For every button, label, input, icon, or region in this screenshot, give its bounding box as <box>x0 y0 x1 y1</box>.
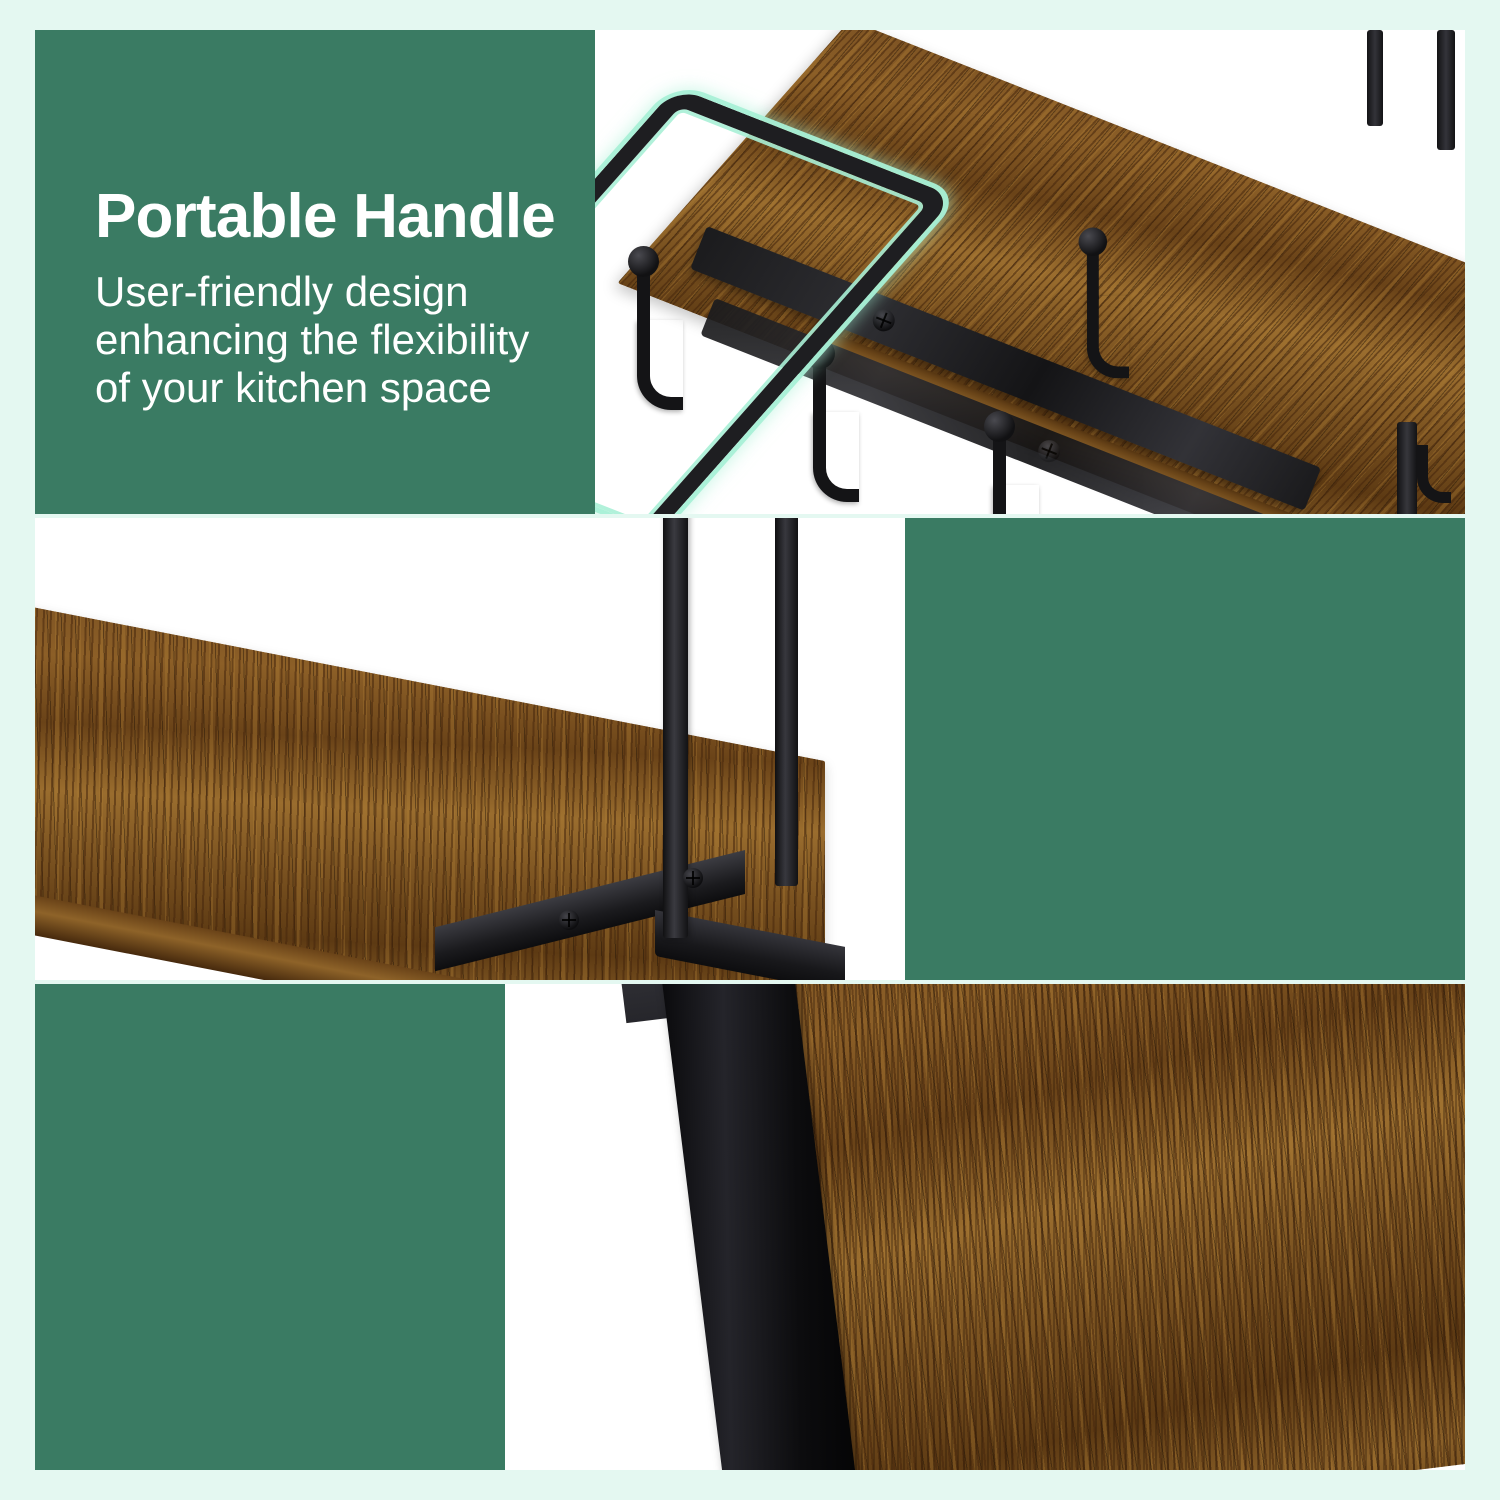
metal-leg-back <box>1367 30 1383 126</box>
panel-1-copy: Portable Handle User-friendly design enh… <box>95 185 615 412</box>
frame-screw-icon-2 <box>559 910 579 930</box>
panel-1-product-photo <box>595 30 1465 514</box>
panel-1-body: User-friendly design enhancing the flexi… <box>95 268 615 412</box>
panel-2-green-background <box>890 518 1465 980</box>
metal-frame-post-right <box>775 518 798 886</box>
hook-icon-3 <box>993 485 1039 514</box>
wood-grain-lines <box>777 984 1465 1470</box>
panel-1-heading: Portable Handle <box>95 185 615 248</box>
feature-panel-portable-handle: Portable Handle User-friendly design enh… <box>35 30 1465 514</box>
hook-icon-4 <box>1087 296 1129 379</box>
metal-leg-right-lower <box>1397 422 1417 514</box>
panel-1-body-line-3: of your kitchen space <box>95 364 492 411</box>
metal-leg-right-upper <box>1437 30 1455 150</box>
panel-3-product-photo <box>505 984 1465 1470</box>
feature-panel-build-to-last: Build To Last Premium wood metal withsta… <box>35 518 1465 980</box>
panel-1-body-line-2: enhancing the flexibility <box>95 316 529 363</box>
rail-screw-icon <box>869 306 898 335</box>
feature-panel-anti-skid-pads: Anti-Skid Pads Ensuring stability and pr… <box>35 984 1465 1470</box>
wood-grain-closeup <box>777 984 1465 1470</box>
frame-screw-icon-1 <box>683 868 703 888</box>
hook-icon-2 <box>813 412 859 502</box>
panel-2-product-photo <box>35 518 905 980</box>
rail-screw-icon <box>1035 437 1064 466</box>
panel-1-body-line-1: User-friendly design <box>95 268 469 315</box>
infographic-canvas: Portable Handle User-friendly design enh… <box>0 0 1500 1500</box>
